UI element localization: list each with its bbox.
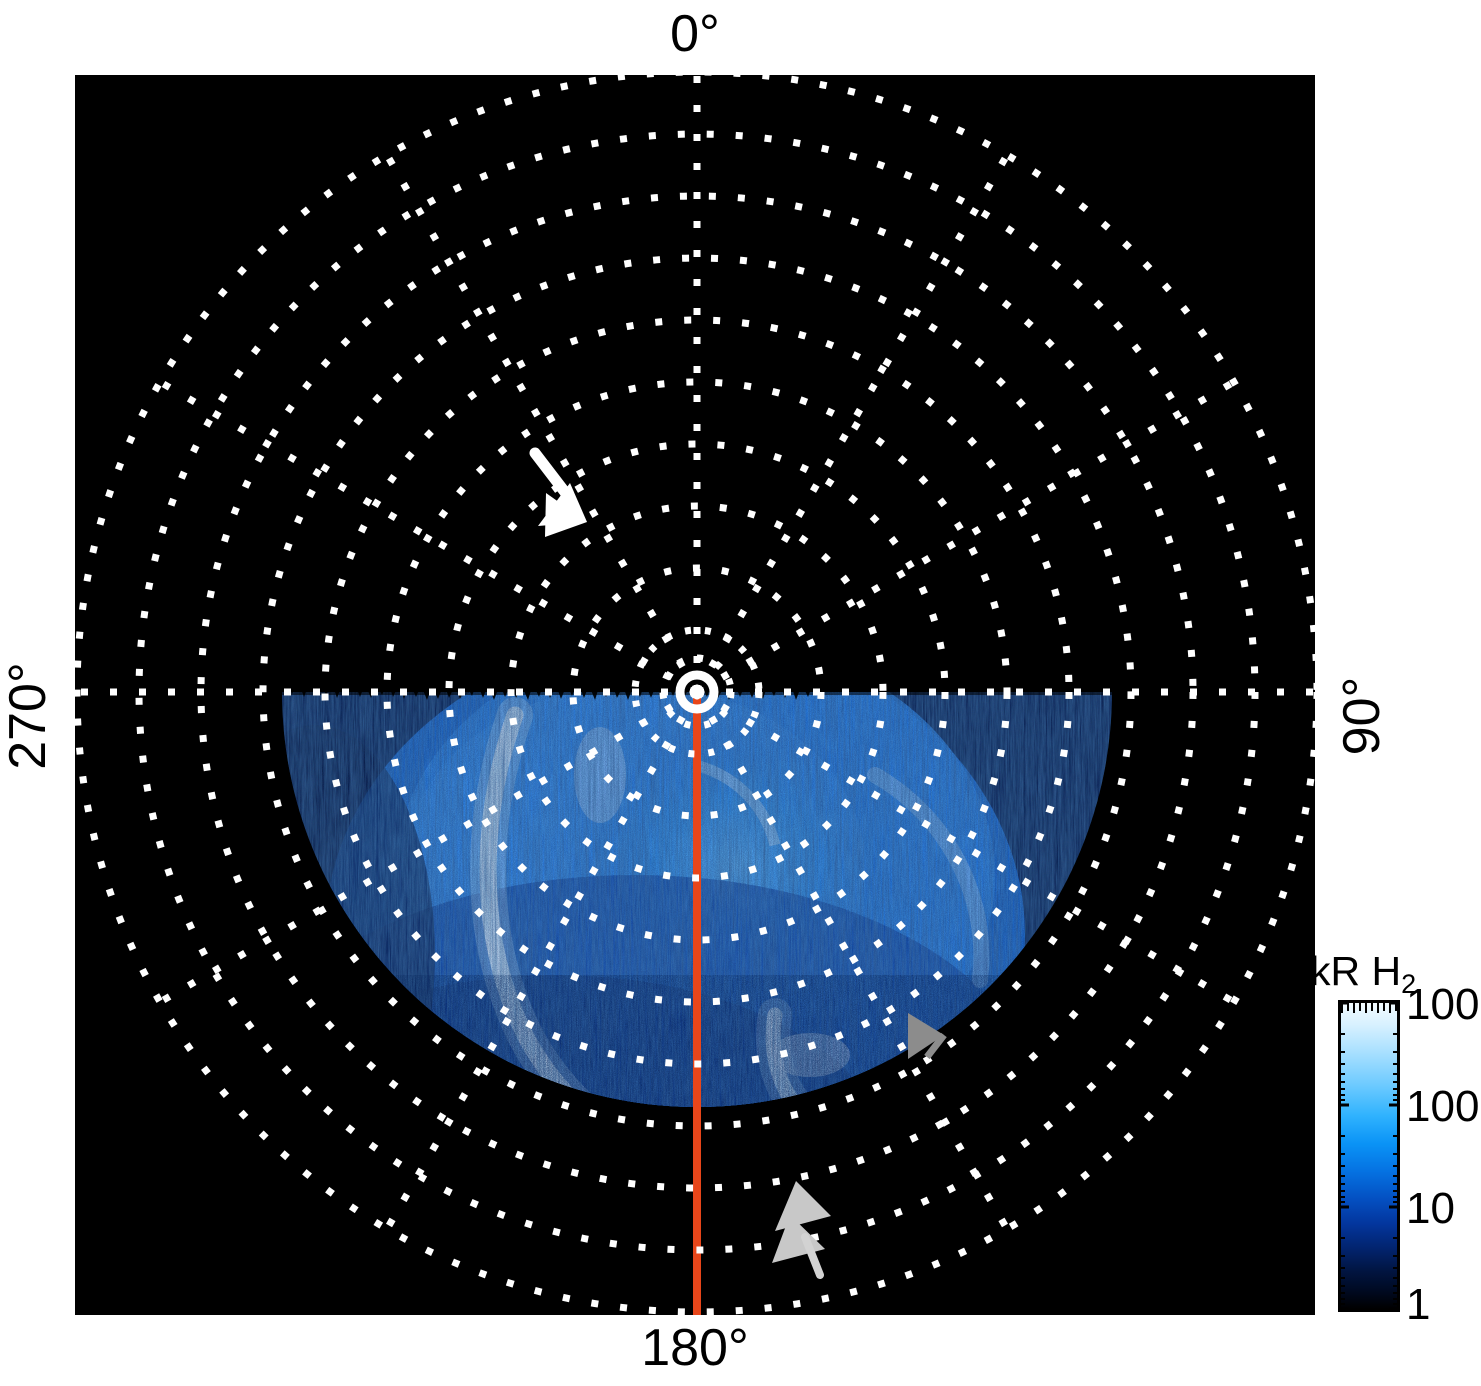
meridian-30 <box>697 155 1007 692</box>
polar-plot-area <box>75 75 1315 1315</box>
gray-double-arrow-annotation <box>772 1181 831 1275</box>
aurora-emission-data <box>195 635 1135 1315</box>
axis-label-left: 270° <box>2 626 54 806</box>
colorbar-title-text: kR H <box>1310 948 1401 994</box>
colorbar-ticks <box>1338 1000 1400 1312</box>
colorbar <box>1338 1000 1400 1312</box>
polar-aurora-figure: 0° 180° 270° 90° <box>0 0 1481 1386</box>
axis-label-top: 0° <box>0 8 1390 60</box>
white-arrow-annotation <box>535 453 587 537</box>
colorbar-title: kR H2 <box>1310 948 1416 1000</box>
colorbar-tick-label-1: 1 <box>1406 1283 1430 1327</box>
axis-label-bottom: 180° <box>0 1322 1390 1374</box>
axis-label-right: 90° <box>1336 626 1388 806</box>
meridian-330 <box>387 155 697 692</box>
colorbar-tick-label-1000: 1000 <box>1406 983 1481 1027</box>
colorbar-tick-label-10: 10 <box>1406 1187 1455 1231</box>
meridian-60 <box>697 382 1234 692</box>
colorbar-tick-label-100: 100 <box>1406 1085 1479 1129</box>
